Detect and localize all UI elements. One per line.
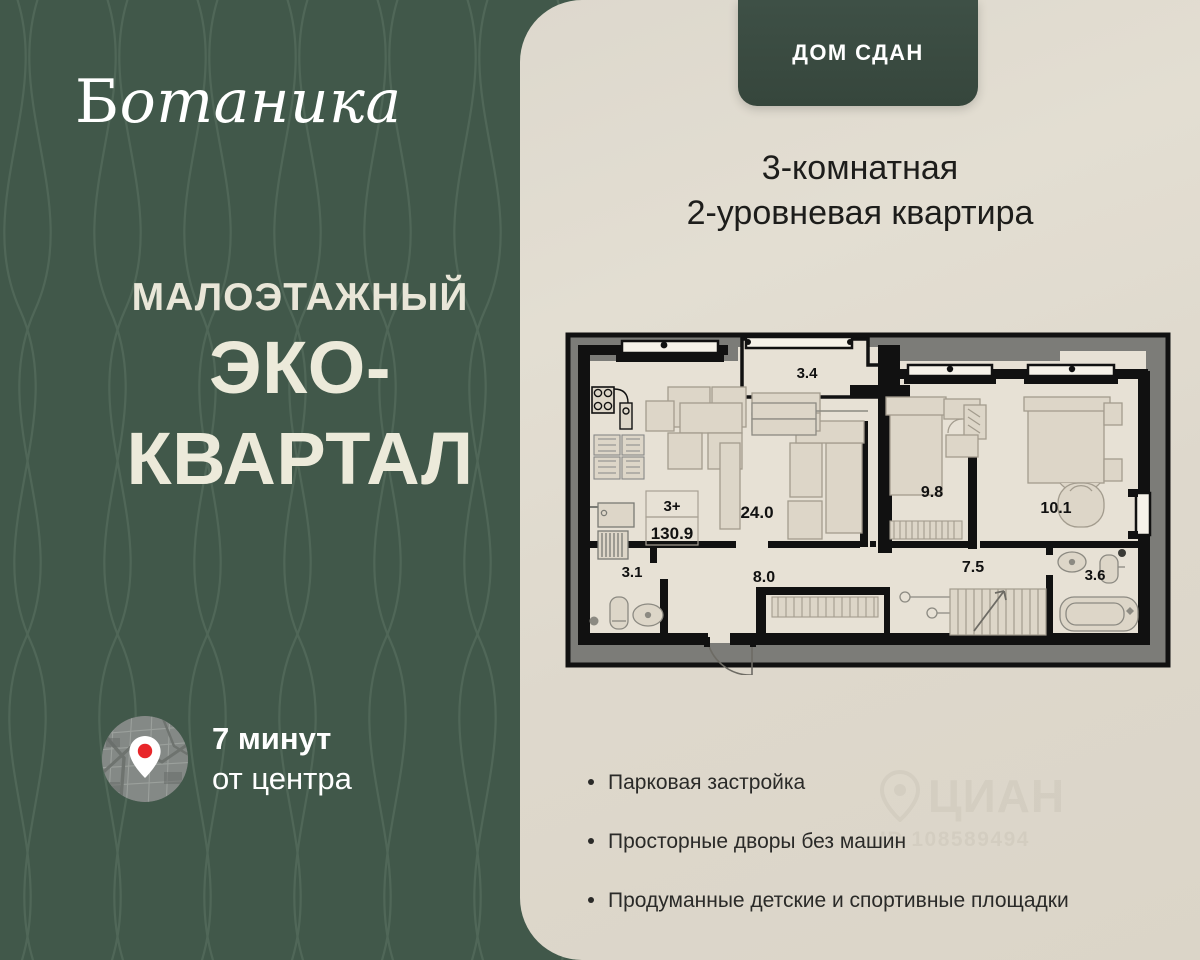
tagline-line-2: ЭКО- [60, 327, 540, 410]
metro-from: от центра [212, 760, 352, 797]
plan-label-bed1: 9.8 [921, 484, 943, 501]
metro-time: 7 минут [212, 721, 352, 757]
feature-list: Парковая застройка Просторные дворы без … [588, 770, 1188, 948]
feature-label: Просторные дворы без машин [608, 829, 906, 854]
plan-label-balcony: 3.4 [797, 365, 819, 382]
map-pin-icon [102, 716, 188, 802]
bullet-icon [588, 897, 594, 903]
plan-label-type: 3+ [663, 498, 680, 515]
plan-label-hall: 8.0 [753, 569, 775, 586]
feature-label: Продуманные детские и спортивные площадк… [608, 888, 1069, 913]
brand-logo: Ботаника [75, 72, 515, 132]
plan-label-bed2: 10.1 [1040, 500, 1071, 517]
plan-label-wc: 3.1 [622, 564, 643, 581]
feature-label: Парковая застройка [608, 770, 805, 795]
plan-label-living: 24.0 [740, 503, 773, 522]
list-item: Просторные дворы без машин [588, 829, 1188, 854]
tagline-line-3: КВАРТАЛ [60, 418, 540, 501]
floorplan: 3+ 130.9 24.0 3.4 3.1 8.0 9.8 10.1 7.5 3… [560, 325, 1190, 675]
list-item: Продуманные детские и спортивные площадк… [588, 888, 1188, 913]
list-item: Парковая застройка [588, 770, 1188, 795]
brand-name-rest: отаника [120, 67, 402, 137]
plan-label-total: 130.9 [651, 524, 694, 543]
plan-label-corridor: 7.5 [962, 559, 984, 576]
listing-card: Ботаника МАЛОЭТАЖНЫЙ ЭКО- КВАРТАЛ [0, 0, 1200, 960]
bullet-icon [588, 779, 594, 785]
plan-panel: ДОМ СДАН 3-комнатная 2-уровневая квартир… [520, 0, 1200, 960]
brand-initial: Б [75, 67, 120, 137]
title-line-2: 2-уровневая квартира [520, 191, 1200, 236]
status-badge-label: ДОМ СДАН [792, 40, 923, 66]
bullet-icon [588, 838, 594, 844]
title-line-1: 3-комнатная [520, 146, 1200, 191]
tagline-line-1: МАЛОЭТАЖНЫЙ [60, 278, 540, 319]
promo-tagline: МАЛОЭТАЖНЫЙ ЭКО- КВАРТАЛ [60, 278, 540, 501]
promo-panel: Ботаника МАЛОЭТАЖНЫЙ ЭКО- КВАРТАЛ [0, 0, 600, 960]
plan-label-bath: 3.6 [1085, 567, 1106, 584]
distance-to-center: 7 минут от центра [102, 716, 352, 802]
status-badge: ДОМ СДАН [738, 0, 978, 106]
page-title: 3-комнатная 2-уровневая квартира [520, 146, 1200, 236]
